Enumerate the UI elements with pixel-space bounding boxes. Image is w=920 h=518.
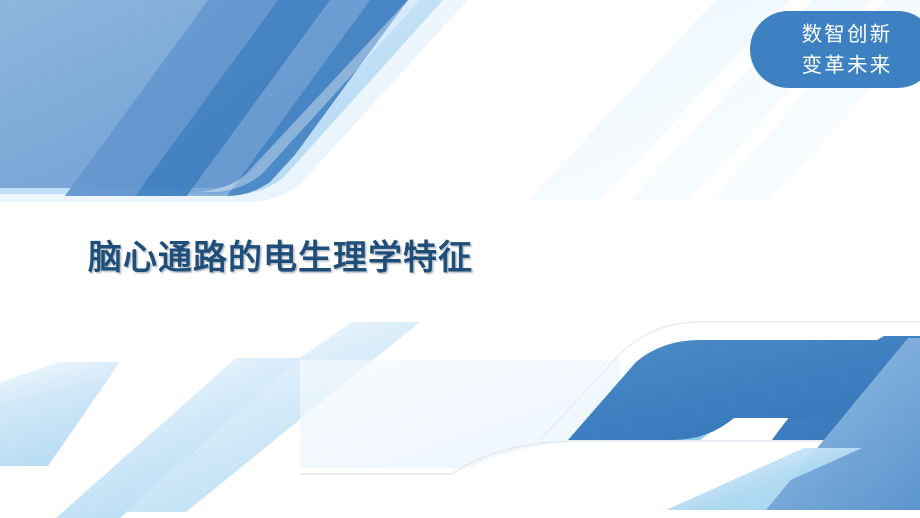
bottom-center-dark-wedge (772, 336, 920, 440)
bottom-right-blue-parallelogram (568, 340, 920, 440)
bottom-left-pale-group (0, 322, 420, 518)
bottom-divider-line (300, 441, 920, 474)
bottom-left-pale-wedge (120, 322, 420, 512)
bottom-right-blue-triangle (766, 338, 920, 510)
bottom-right-parallelogram-outline (540, 322, 920, 440)
center-sweep-group (300, 360, 920, 474)
page-title: 脑心通路的电生理学特征 (88, 230, 473, 279)
bottom-right-pale-triangle-left (666, 448, 862, 510)
bottom-left-pale-stripe (56, 358, 300, 518)
top-left-diagonal-bands (40, 0, 430, 230)
badge-line-1: 数智创新 (802, 19, 893, 50)
bottom-center-pale-wedge (660, 352, 820, 440)
bottom-right-triangle-group (666, 338, 920, 510)
top-left-blue-block (0, 0, 408, 188)
top-left-pale-band (0, 0, 443, 194)
bottom-left-pale-chevron (0, 362, 120, 466)
center-pale-sweep (300, 360, 620, 468)
corner-tagline-badge: 数智创新 变革未来 (750, 11, 920, 88)
top-left-block-edge-highlight (198, 0, 420, 192)
bottom-right-parallelogram-group (500, 318, 920, 470)
badge-line-2: 变革未来 (802, 50, 893, 81)
top-left-pale-outer (0, 0, 468, 202)
top-left-shape-group (0, 0, 468, 230)
top-right-faint-band-a (528, 0, 790, 200)
bottom-center-wedge-group (660, 336, 920, 440)
slide-canvas: 数智创新 变革未来 脑心通路的电生理学特征 (0, 0, 920, 518)
bottom-right-pale-triangle (680, 436, 920, 510)
